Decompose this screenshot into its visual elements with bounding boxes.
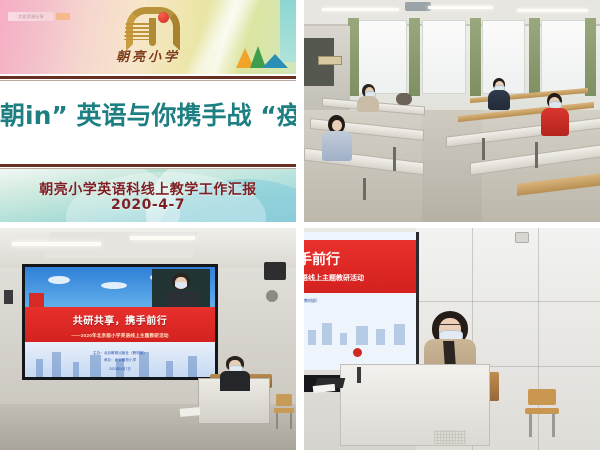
watermark-label: 文档资源分享 [8,12,54,21]
presenter-podium-photo: 手前行 英语线上主题教研活动 （教材部） [304,228,600,450]
ceiling-light-2 [130,236,195,240]
air-conditioner-unit [405,2,431,11]
desk-leg-l3 [363,178,366,200]
projection-screen-frame: 共研共享，携手前行 ——2020年北京版小学英语线上主题教研活动 主办：北京教育… [22,264,218,380]
window-4 [541,20,590,94]
skyline-bldg-6 [394,324,405,345]
curtain-4 [529,18,540,96]
chair-leg-left [276,413,278,429]
person-right-front [541,93,569,135]
school-logo: 朝亮小学 [106,6,190,70]
divider-top [0,76,296,79]
person-right-back [488,78,510,108]
chair-leg-right [290,413,292,429]
ceiling-light-1 [322,8,399,11]
skyline-bldg-2 [52,352,61,377]
person-torso [322,131,352,161]
person-center-partial [396,93,412,107]
collage-cell-title-slide: 文档资源分享 朝亮小学 [0,0,296,222]
photo-collage: 文档资源分享 朝亮小学 [0,0,600,450]
chair-back [276,394,292,406]
curtain-3 [470,18,481,96]
ceiling-light-2 [428,6,493,9]
skyline-bldg-1 [308,330,316,345]
collage-cell-presenter: 手前行 英语线上主题教研活动 （教材部） [304,228,600,450]
chair-leg-left [529,413,532,437]
person-left-back [357,84,379,110]
wall-speaker [264,262,286,280]
desk-leg-r2 [535,142,538,168]
slide-footer-date: 2020-4-7 [0,197,296,213]
screen-organizer-line: 主办：北京教育出版社（教材部） [25,351,215,356]
person-arm [396,93,412,105]
divider-bottom [0,164,296,167]
logo-stripes-shape [124,23,152,40]
wall-sign [318,56,342,65]
curtain-5 [585,18,596,96]
person-torso [357,96,379,112]
window-2 [422,20,465,94]
slide-title-area: 朝in” 英语与你携手战 “疫 [0,81,296,164]
screen-subtitle-text: ——2020年北京版小学英语线上主题教研活动 [25,333,215,339]
skyline-bldg-4 [356,326,368,345]
skyline-bldg-2 [322,323,332,345]
microphone-icon [353,348,362,357]
screen-note-text: （教材部） [304,298,320,304]
logo-stem-shape [149,18,156,46]
window-1 [357,20,406,94]
podium-vent-grille [434,430,466,444]
logo-sun-dot-icon [158,12,169,23]
screen-cloud-1 [48,276,70,284]
screen-title-text: 手前行 [304,249,416,269]
microphone-stem [357,367,361,383]
title-slide: 文档资源分享 朝亮小学 [0,0,296,222]
desk-leg-l2 [393,147,396,171]
slide-header-band: 文档资源分享 朝亮小学 [0,0,296,74]
podium-body [340,364,490,446]
side-chair [274,394,294,428]
triangle-decor-group [236,46,288,70]
projection-screen: 手前行 英语线上主题教研活动 （教材部） [304,232,419,370]
person-presenter [220,356,250,390]
screen-host-line: 承办：北京朝亮小学 [25,358,215,363]
wall-dome-camera [266,290,278,302]
wall-outlet [515,232,529,243]
watermark-badge-decor [56,13,70,20]
person-torso [220,371,250,391]
projection-screen: 共研共享，携手前行 ——2020年北京版小学英语线上主题教研活动 主办：北京教育… [25,267,215,377]
video-face-mask-icon [175,282,187,288]
skyline-bldg-3 [340,333,347,345]
triangle-teal-icon [262,54,288,68]
chair-leg-right [552,413,555,437]
classroom-meeting-photo [304,0,600,222]
curtain-2 [409,18,420,96]
tile-grout-h1 [416,301,600,302]
screen-date-line: 2020年4月7日 [25,366,215,371]
screen-video-thumbnail [152,269,210,309]
school-logo-icon [118,6,178,48]
desk-leg-r1 [482,138,485,160]
side-chair [525,389,559,437]
glasses-icon [440,324,460,329]
person-torso [541,108,569,136]
wall-speaker-left [4,290,13,304]
slide-main-title: 朝in” 英语与你携手战 “疫 [0,101,296,131]
screen-city-skyline [304,315,416,345]
screen-title-text: 共研共享，携手前行 [25,312,215,327]
screen-subtitle-text: 英语线上主题教研活动 [304,273,416,283]
slide-footer-area: 朝亮小学英语科线上教学工作汇报 2020-4-7 [0,169,296,222]
ceiling-light-3 [517,9,588,12]
ceiling-light-1 [12,242,101,246]
person-left-front [322,115,352,159]
slide-footer-subtitle: 朝亮小学英语科线上教学工作汇报 [0,179,296,199]
collage-cell-classroom [304,0,600,222]
collage-cell-auditorium: 共研共享，携手前行 ——2020年北京版小学英语线上主题教研活动 主办：北京教育… [0,228,296,450]
chair-back [528,389,556,405]
person-torso [488,90,510,110]
auditorium-screen-photo: 共研共享，携手前行 ——2020年北京版小学英语线上主题教研活动 主办：北京教育… [0,228,296,450]
skyline-bldg-5 [376,329,385,345]
